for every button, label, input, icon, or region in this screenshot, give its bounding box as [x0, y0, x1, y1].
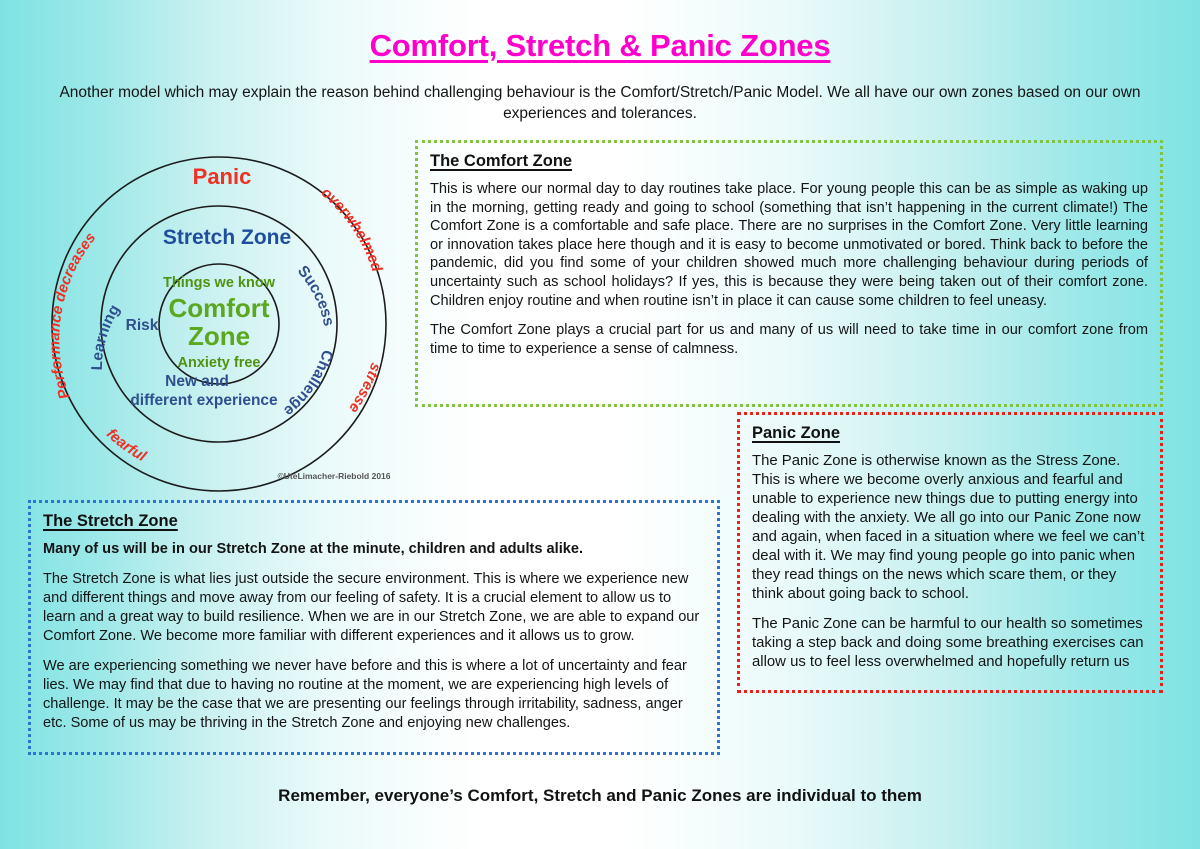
- panic-keyword-overwhelmed: overwhelmed: [318, 184, 386, 275]
- panic-zone-panel: Panic Zone The Panic Zone is otherwise k…: [737, 412, 1163, 693]
- comfort-label-line1: Comfort: [168, 293, 269, 323]
- stretch-keyword-different-experience: different experience: [130, 392, 278, 409]
- page-title: Comfort, Stretch & Panic Zones: [0, 28, 1200, 64]
- panic-keyword-fearful: fearful: [103, 425, 150, 465]
- diagram-credit: ©UteLimacher-Riebold 2016: [277, 471, 390, 481]
- stretch-keyword-learning: Learning: [89, 302, 124, 371]
- stretch-ring-label: Stretch Zone: [163, 226, 291, 249]
- comfort-zone-panel: The Comfort Zone This is where our norma…: [415, 140, 1163, 407]
- stretch-keyword-risk: Risk: [126, 317, 159, 334]
- comfort-label-anxiety-free: Anxiety free: [177, 355, 260, 371]
- panic-zone-heading: Panic Zone: [752, 424, 1148, 443]
- comfort-label-things-we-know: Things we know: [163, 275, 276, 291]
- panic-zone-paragraph-2: The Panic Zone can be harmful to our hea…: [752, 615, 1148, 672]
- panic-keyword-performance-decreases: Performance decreases: [46, 229, 99, 401]
- panic-ring-label: Panic: [193, 164, 252, 189]
- comfort-zone-paragraph-2: The Comfort Zone plays a crucial part fo…: [430, 321, 1148, 358]
- stretch-keyword-challenge: Challenge: [280, 348, 336, 420]
- stretch-keyword-success: Success: [294, 263, 337, 328]
- comfort-label-line2: Zone: [188, 321, 250, 351]
- comfort-zone-paragraph-1: This is where our normal day to day rout…: [430, 180, 1148, 310]
- comfort-stretch-panic-diagram: Panic Stretch Zone Things we know Comfor…: [34, 134, 424, 494]
- footer-reminder: Remember, everyone’s Comfort, Stretch an…: [0, 786, 1200, 806]
- stretch-keyword-new-and: New and: [165, 373, 229, 390]
- stretch-zone-paragraph-2: We are experiencing something we never h…: [43, 657, 705, 733]
- stretch-zone-lead: Many of us will be in our Stretch Zone a…: [43, 540, 705, 559]
- intro-paragraph: Another model which may explain the reas…: [28, 82, 1172, 124]
- stretch-zone-heading: The Stretch Zone: [43, 512, 705, 531]
- page-title-text: Comfort, Stretch & Panic Zones: [370, 28, 831, 63]
- panic-zone-paragraph-1: The Panic Zone is otherwise known as the…: [752, 452, 1148, 604]
- comfort-zone-heading: The Comfort Zone: [430, 152, 1148, 171]
- stretch-zone-paragraph-1: The Stretch Zone is what lies just outsi…: [43, 570, 705, 646]
- stretch-zone-panel: The Stretch Zone Many of us will be in o…: [28, 500, 720, 755]
